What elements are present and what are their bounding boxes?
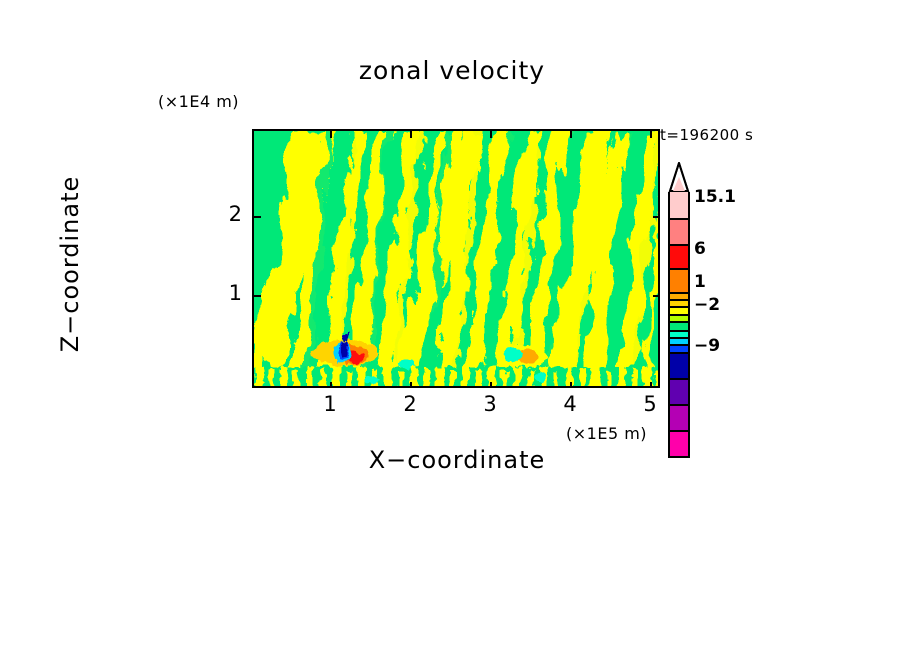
x-tick-top-3: [490, 131, 492, 138]
y-axis-label: Z−coordinate: [56, 134, 84, 394]
x-tick-2: [410, 382, 412, 388]
x-tick-label-1: 1: [310, 392, 350, 416]
y-tick-label-1: 1: [214, 281, 242, 305]
y-tick-right-2: [653, 216, 659, 218]
x-tick-3: [490, 382, 492, 388]
x-axis-units: (×1E5 m): [566, 424, 647, 443]
x-tick-4: [570, 382, 572, 388]
colorbar-band-orange: [668, 268, 690, 292]
colorbar-arrow-tip: [668, 162, 690, 192]
time-annotation: t=196200 s: [660, 126, 753, 144]
colorbar-band-yellowgreen: [668, 314, 690, 321]
y-axis-units: (×1E4 m): [158, 92, 239, 111]
y-tick-right-1: [653, 295, 659, 297]
contour-svg: [254, 131, 660, 388]
x-axis-label: X−coordinate: [254, 446, 660, 474]
x-tick-top-2: [410, 131, 412, 138]
y-tick-label-2: 2: [214, 202, 242, 226]
x-tick-label-3: 3: [470, 392, 510, 416]
x-tick-label-5: 5: [630, 392, 670, 416]
x-tick-1: [330, 382, 332, 388]
contour-field: [252, 129, 660, 388]
colorbar-band-purple: [668, 378, 690, 404]
colorbar-band-springgreen: [668, 321, 690, 330]
colorbar-label-6: 6: [694, 239, 706, 259]
colorbar-label-neg2: −2: [694, 295, 720, 315]
x-tick-5: [650, 382, 652, 388]
colorbar-band-yellow: [668, 306, 690, 314]
colorbar-band-violet: [668, 404, 690, 430]
colorbar[interactable]: [668, 192, 690, 458]
colorbar-band-cyan: [668, 337, 690, 344]
colorbar-band-navy: [668, 352, 690, 378]
page-title: zonal velocity: [0, 56, 904, 85]
x-tick-label-4: 4: [550, 392, 590, 416]
x-tick-top-1: [330, 131, 332, 138]
x-tick-label-2: 2: [390, 392, 430, 416]
colorbar-band-magenta: [668, 430, 690, 458]
colorbar-label-neg9: −9: [694, 336, 720, 356]
colorbar-band-blue: [668, 344, 690, 352]
secondary-dipole: [498, 344, 546, 366]
figure-canvas: zonal velocity (×1E4 m) t=196200 s Z−coo…: [0, 0, 904, 654]
colorbar-label-1: 1: [694, 272, 706, 292]
colorbar-band-red: [668, 244, 690, 268]
y-tick-1: [254, 295, 261, 297]
colorbar-band-aquamarine: [668, 330, 690, 337]
colorbar-band-amber: [668, 292, 690, 299]
colorbar-label-15: 15.1: [694, 187, 736, 207]
colorbar-band-gold: [668, 299, 690, 306]
plot-area: [254, 131, 660, 388]
colorbar-band-pink: [668, 192, 690, 218]
colorbar-band-salmon: [668, 218, 690, 244]
x-tick-top-4: [570, 131, 572, 138]
y-tick-2: [254, 216, 261, 218]
x-tick-top-5: [650, 131, 652, 138]
